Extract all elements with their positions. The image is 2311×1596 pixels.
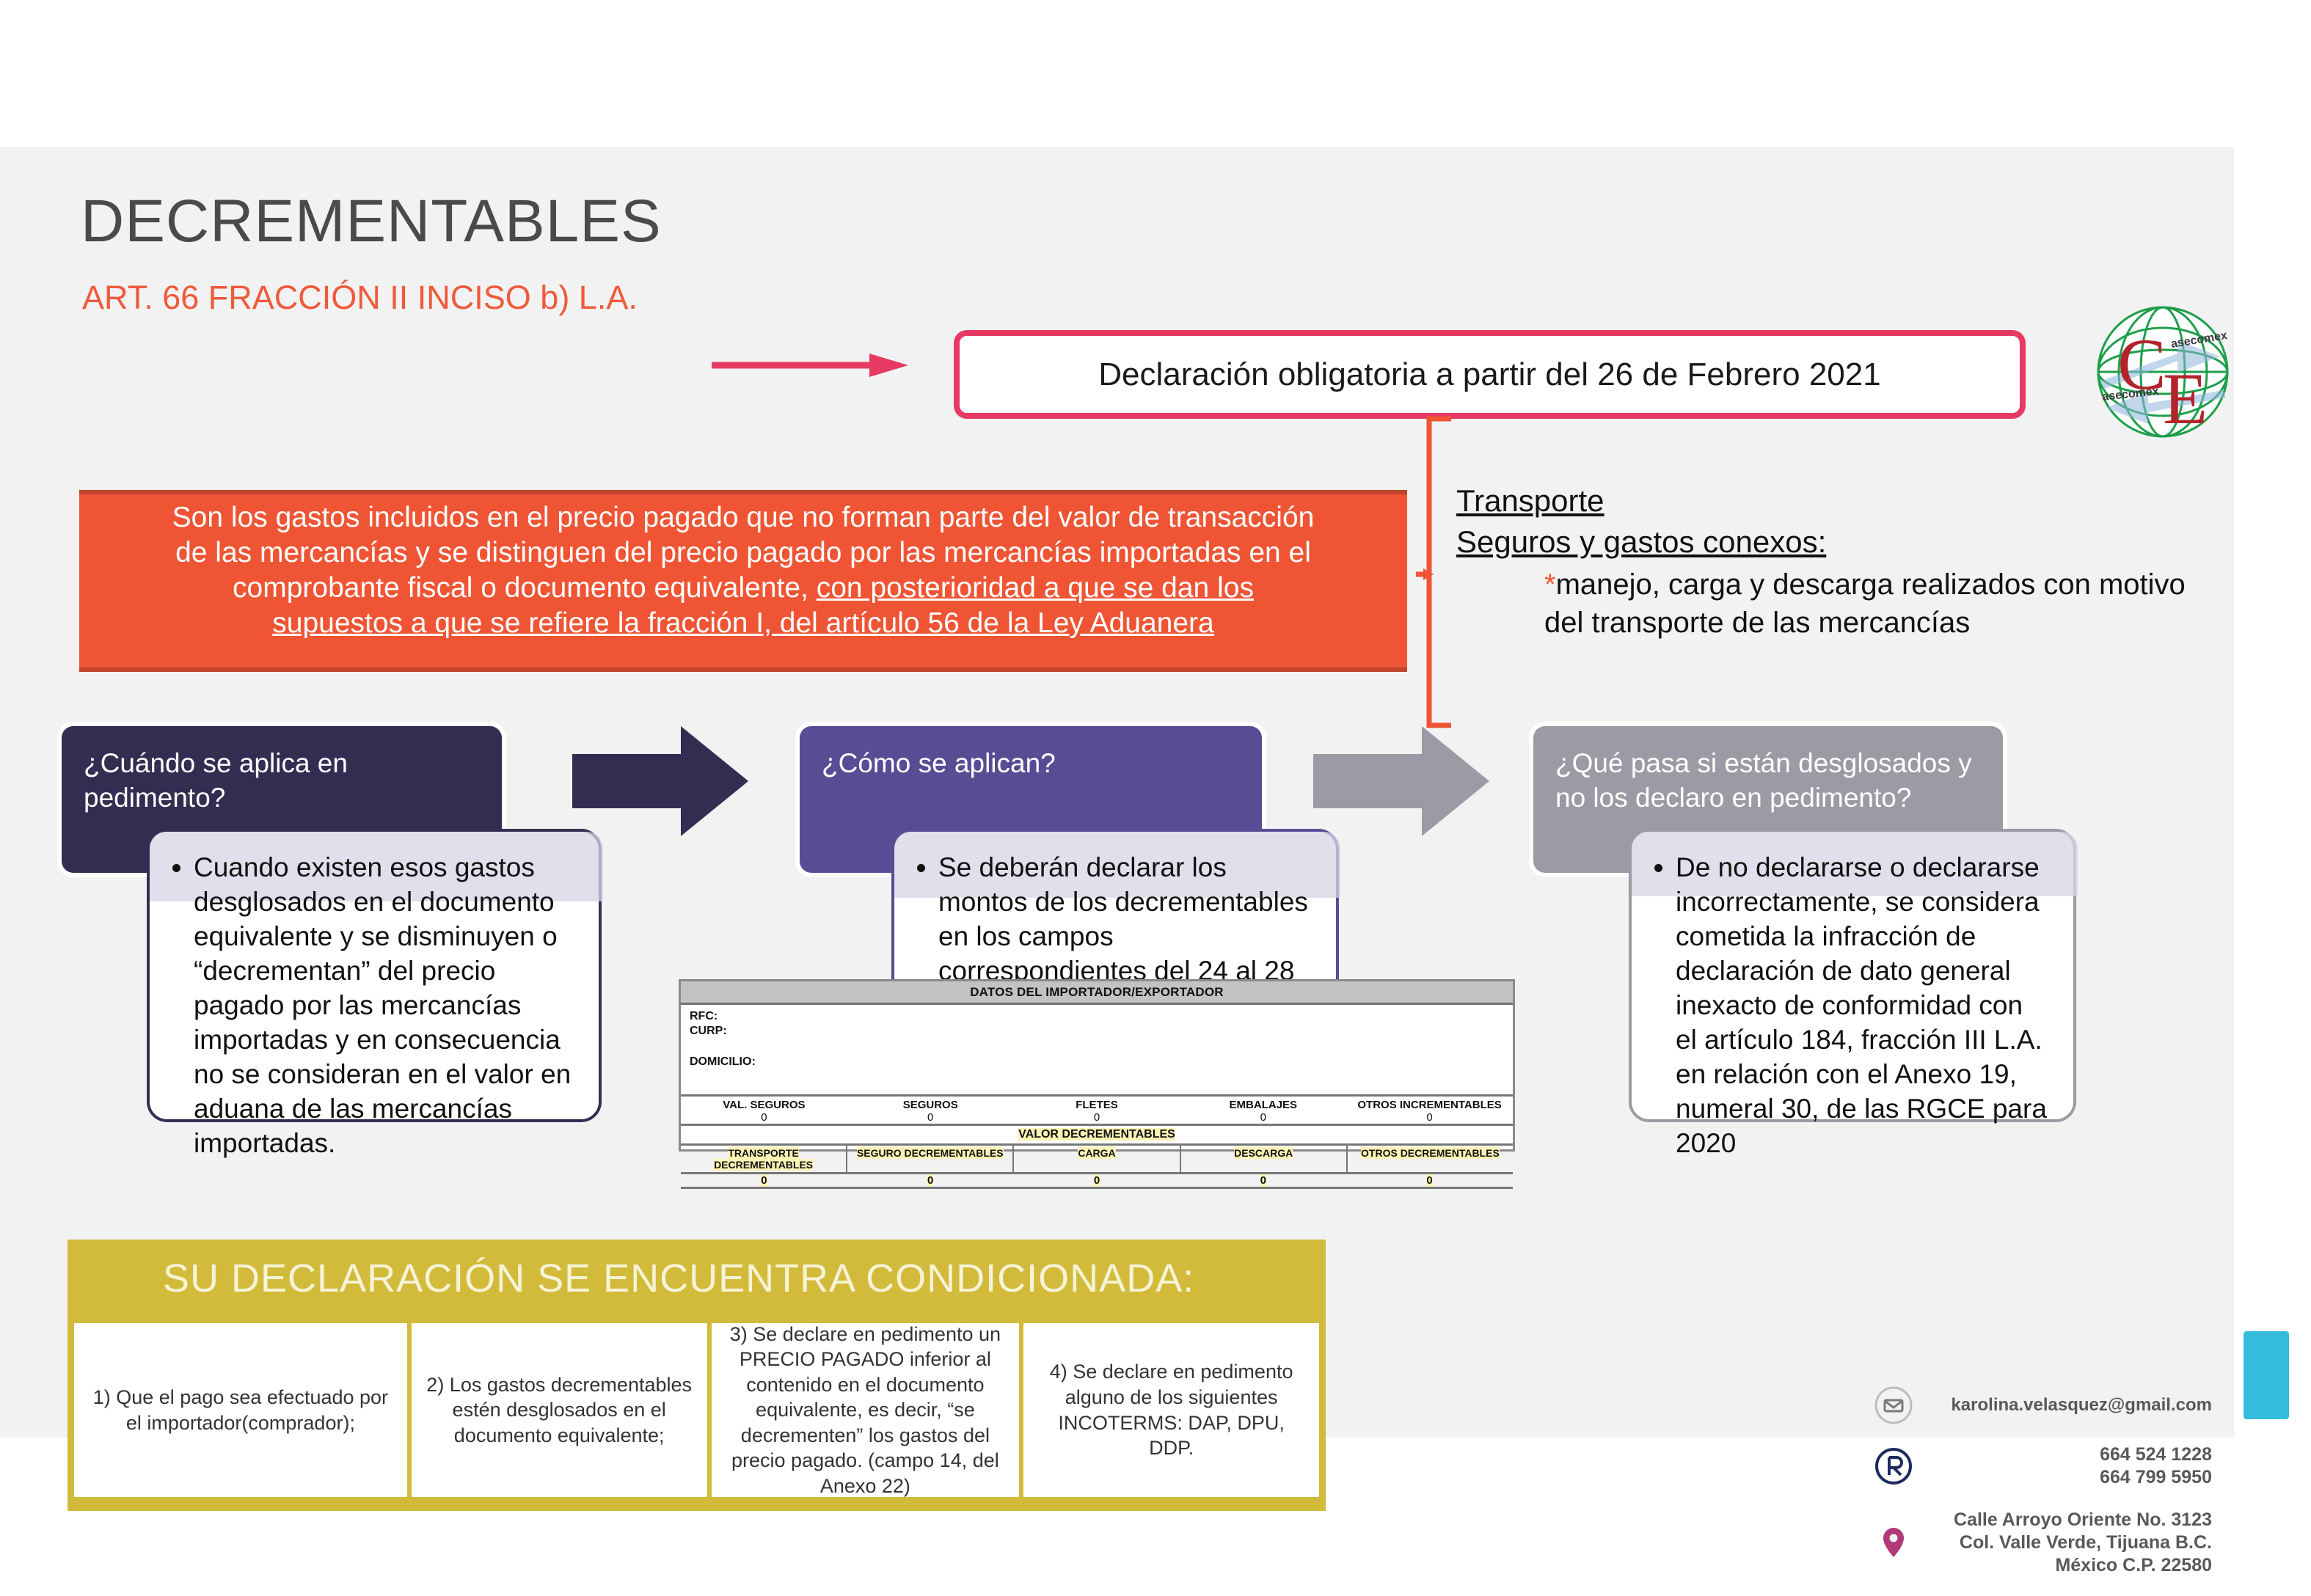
contact-block: karolina.velasquez@gmail.com 664 524 122… — [1874, 1386, 2212, 1596]
pedimento-header-embalajes: EMBALAJES — [1180, 1097, 1346, 1111]
side-note-heading-transporte: Transporte — [1456, 480, 2219, 521]
pedimento-curp-label: CURP: — [690, 1024, 1513, 1039]
arrow-step-1-icon — [572, 726, 748, 836]
contact-address-row[interactable]: Calle Arroyo Oriente No. 3123 Col. Valle… — [1874, 1509, 2212, 1578]
pedimento-value-transporte-decrementables: 0 — [761, 1174, 767, 1187]
column-header-2-label: ¿Cómo se aplican? — [822, 748, 1056, 778]
definition-line-3: comprobante fiscal o documento equivalen… — [90, 571, 1397, 606]
pedimento-valor-decrementables-label: VALOR DECREMENTABLES — [1018, 1128, 1175, 1141]
pedimento-header-seguros: SEGUROS — [847, 1097, 1014, 1111]
pedimento-header-seguro-decrementables: SEGURO DECREMENTABLES — [857, 1147, 1004, 1159]
pedimento-incrementables-values: 0 0 0 0 0 — [681, 1111, 1513, 1124]
definition-line-1: Son los gastos incluidos en el precio pa… — [90, 500, 1397, 535]
definition-line-3-underlined: con posterioridad a que se dan los — [817, 572, 1254, 604]
pedimento-value-seguro-decrementables: 0 — [927, 1174, 933, 1187]
pedimento-decrementables-headers: TRANSPORTE DECREMENTABLES SEGURO DECREME… — [681, 1146, 1513, 1172]
column-header-3-label: ¿Qué pasa si están desglosados y no los … — [1555, 748, 1972, 813]
pedimento-title: DATOS DEL IMPORTADOR/EXPORTADOR — [681, 981, 1513, 1005]
pedimento-decrementables-values: 0 0 0 0 0 — [681, 1174, 1513, 1187]
pedimento-header-descarga: DESCARGA — [1234, 1147, 1293, 1159]
contact-address-3: México C.P. 22580 — [1927, 1554, 2212, 1577]
conditions-header-label: SU DECLARACIÓN SE ENCUENTRA CONDICIONADA… — [163, 1256, 1194, 1301]
arrow-step-2-icon — [1313, 726, 1489, 836]
pedimento-value-carga: 0 — [1094, 1174, 1100, 1187]
location-pin-icon — [1874, 1523, 1913, 1562]
svg-text:E: E — [2163, 358, 2208, 439]
contact-email: karolina.velasquez@gmail.com — [1927, 1394, 2212, 1416]
pedimento-value-descarga: 0 — [1260, 1174, 1266, 1187]
mandatory-declaration-banner: Declaración obligatoria a partir del 26 … — [954, 330, 2026, 419]
pedimento-value-otros-decrementables: 0 — [1426, 1174, 1432, 1187]
column-header-1-label: ¿Cuándo se aplica en pedimento? — [84, 748, 348, 813]
definition-line-2: de las mercancías y se distinguen del pr… — [90, 535, 1397, 571]
callout-3-text: De no declararse o declararse incorrecta… — [1676, 851, 2048, 1161]
side-note: Transporte Seguros y gastos conexos: *ma… — [1456, 480, 2219, 642]
contact-address-1: Calle Arroyo Oriente No. 3123 — [1927, 1509, 2212, 1531]
pedimento-value-val-seguros: 0 — [681, 1111, 847, 1124]
contact-address-2: Col. Valle Verde, Tijuana B.C. — [1927, 1531, 2212, 1554]
contact-phone-row[interactable]: 664 524 1228 664 799 5950 — [1874, 1443, 2212, 1490]
definition-line-3-plain: comprobante fiscal o documento equivalen… — [233, 572, 817, 604]
slide-canvas: DECREMENTABLES ART. 66 FRACCIÓN II INCIS… — [0, 147, 2234, 1438]
callout-how-applied: Se deberán declarar los montos de los de… — [891, 829, 1339, 1005]
page-subtitle: ART. 66 FRACCIÓN II INCISO b) L.A. — [82, 279, 638, 317]
pedimento-domicilio-label: DOMICILIO: — [690, 1055, 1513, 1069]
condition-item-1: 1) Que el pago sea efectuado por el impo… — [72, 1321, 409, 1499]
accent-cyan-rect — [2244, 1331, 2289, 1419]
contact-address: Calle Arroyo Oriente No. 3123 Col. Valle… — [1927, 1509, 2212, 1578]
pedimento-rfc-label: RFC: — [690, 1009, 1513, 1024]
pedimento-incrementables-headers: VAL. SEGUROS SEGUROS FLETES EMBALAJES OT… — [681, 1097, 1513, 1111]
callout-when-applied: Cuando existen esos gastos desglosados e… — [147, 829, 602, 1122]
definition-box: Son los gastos incluidos en el precio pa… — [79, 490, 1407, 672]
pedimento-value-seguros: 0 — [847, 1111, 1014, 1124]
pedimento-header-transporte-decrementables: TRANSPORTE DECREMENTABLES — [714, 1147, 813, 1171]
email-icon — [1874, 1386, 1913, 1424]
pedimento-header-fletes: FLETES — [1014, 1097, 1180, 1111]
conditions-body: 1) Que el pago sea efectuado por el impo… — [67, 1317, 1326, 1511]
pedimento-identity-block: RFC: CURP: DOMICILIO: — [681, 1005, 1513, 1094]
contact-phone-1: 664 524 1228 — [1927, 1443, 2212, 1466]
side-note-detail: *manejo, carga y descarga realizados con… — [1544, 565, 2219, 642]
pedimento-value-fletes: 0 — [1014, 1111, 1180, 1124]
pedimento-valor-decrementables-row: VALOR DECREMENTABLES — [681, 1126, 1513, 1143]
pedimento-value-embalajes: 0 — [1180, 1111, 1346, 1124]
conditions-header: SU DECLARACIÓN SE ENCUENTRA CONDICIONADA… — [67, 1240, 1326, 1317]
pedimento-header-otros-decrementables: OTROS DECREMENTABLES — [1361, 1147, 1500, 1159]
contact-email-row[interactable]: karolina.velasquez@gmail.com — [1874, 1386, 2212, 1424]
pedimento-table: DATOS DEL IMPORTADOR/EXPORTADOR RFC: CUR… — [679, 979, 1515, 1152]
page-title: DECREMENTABLES — [81, 187, 662, 256]
pedimento-header-otros-incrementables: OTROS INCREMENTABLES — [1346, 1097, 1513, 1111]
banner-text: Declaración obligatoria a partir del 26 … — [1098, 356, 1880, 393]
pedimento-header-carga: CARGA — [1078, 1147, 1115, 1159]
condition-item-4: 4) Se declare en pedimento alguno de los… — [1021, 1321, 1321, 1499]
phone-icon — [1874, 1447, 1913, 1485]
contact-phones: 664 524 1228 664 799 5950 — [1927, 1443, 2212, 1490]
side-note-heading-seguros: Seguros y gastos conexos: — [1456, 521, 2219, 563]
condition-item-2: 2) Los gastos decrementables estén desgl… — [409, 1321, 709, 1499]
contact-phone-2: 664 799 5950 — [1927, 1466, 2212, 1489]
asterisk-icon: * — [1544, 568, 1556, 601]
arrow-right-icon — [712, 351, 917, 380]
definition-line-4: supuestos a que se refiere la fracción I… — [90, 606, 1397, 641]
pedimento-value-otros-incrementables: 0 — [1346, 1111, 1513, 1124]
asecomex-logo: C E asecomex asecomex — [2089, 302, 2236, 442]
condition-item-3: 3) Se declare en pedimento un PRECIO PAG… — [709, 1321, 1022, 1499]
side-note-detail-text: manejo, carga y descarga realizados con … — [1544, 568, 2186, 639]
pedimento-header-val-seguros: VAL. SEGUROS — [681, 1097, 847, 1111]
callout-not-declared: De no declararse o declararse incorrecta… — [1629, 829, 2076, 1122]
callout-1-text: Cuando existen esos gastos desglosados e… — [194, 851, 574, 1161]
